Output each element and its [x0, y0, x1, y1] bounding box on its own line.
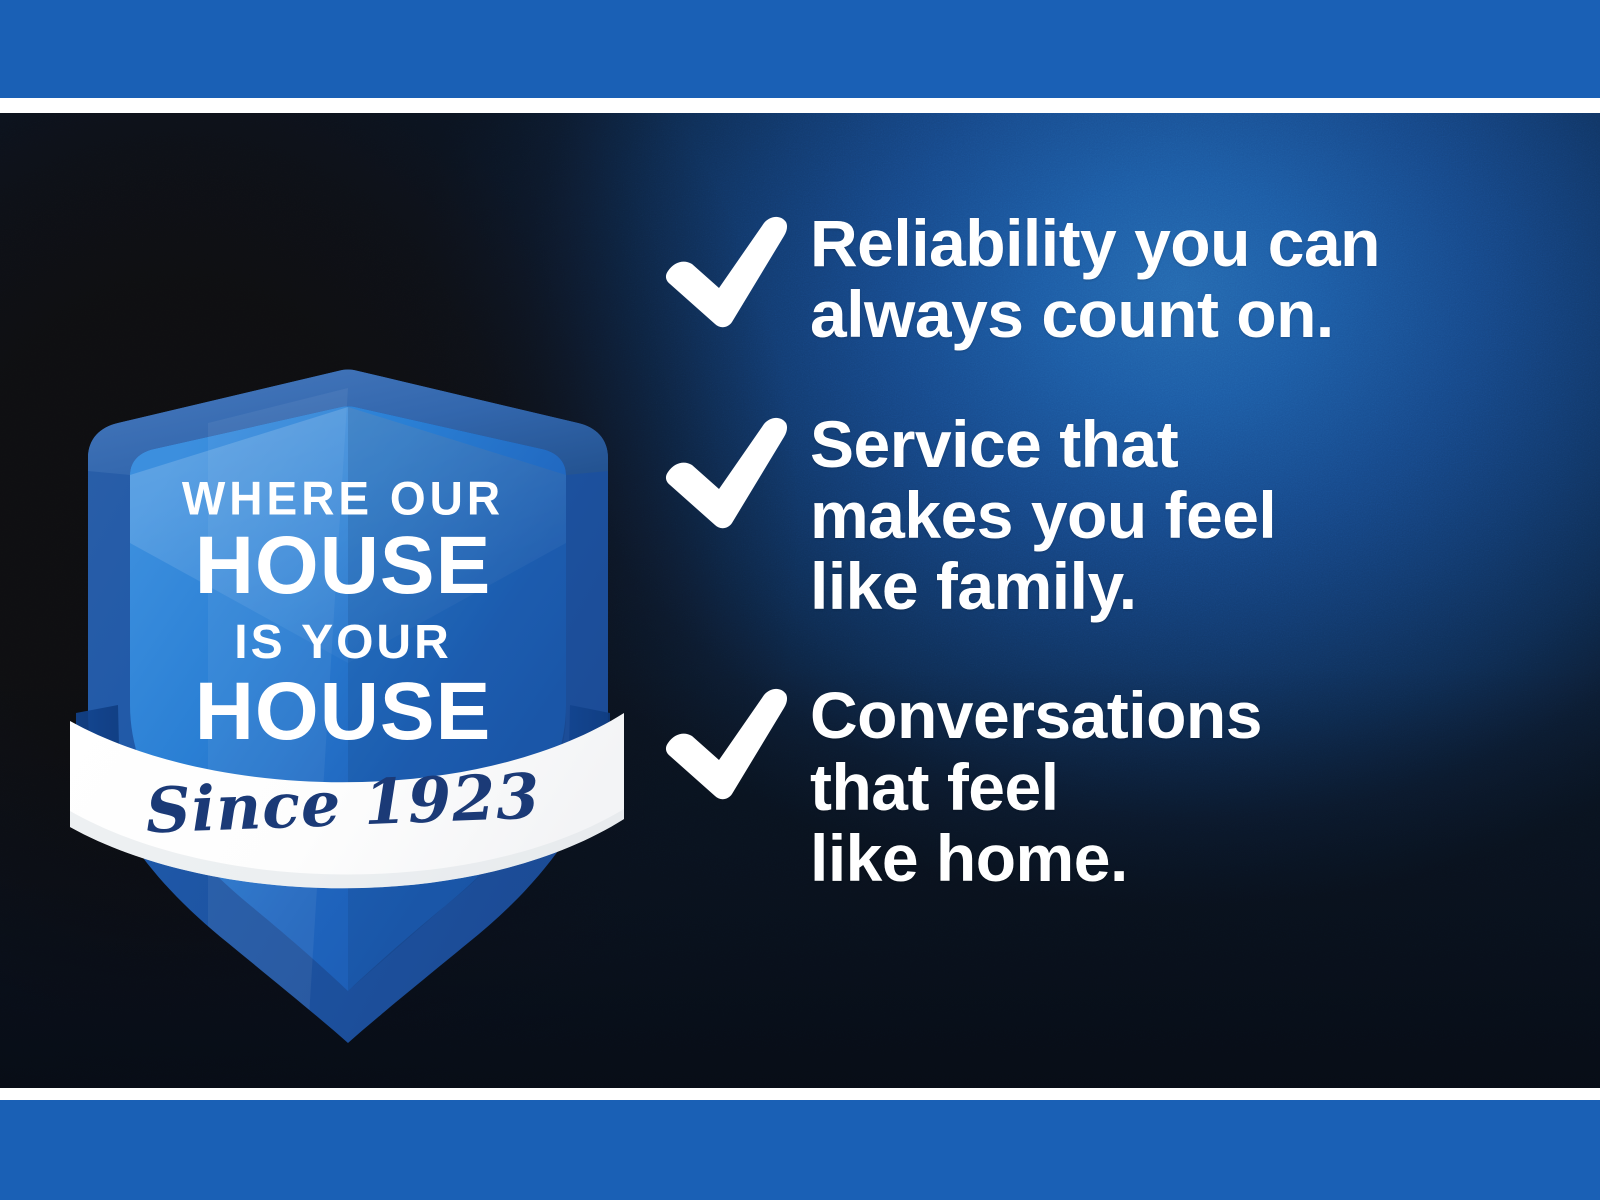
benefit-text: Conversations that feel like home.	[810, 680, 1262, 894]
badge-line-4: HOUSE	[58, 671, 628, 753]
checkmark-icon	[660, 208, 810, 332]
badge-line-3: IS YOUR	[58, 619, 628, 667]
benefit-item: Service that makes you feel like family.	[660, 409, 1550, 623]
top-white-divider	[0, 98, 1600, 113]
main-stage: WHERE OUR HOUSE IS YOUR HOUSE Since 1923…	[0, 113, 1600, 1088]
benefits-list: Reliability you can always count on. Ser…	[660, 208, 1550, 894]
benefit-item: Conversations that feel like home.	[660, 680, 1550, 894]
promo-graphic: WHERE OUR HOUSE IS YOUR HOUSE Since 1923…	[0, 0, 1600, 1200]
top-brand-bar	[0, 0, 1600, 98]
shield-badge: WHERE OUR HOUSE IS YOUR HOUSE Since 1923	[58, 243, 628, 943]
bottom-brand-bar	[0, 1100, 1600, 1200]
badge-line-2: HOUSE	[58, 525, 628, 607]
benefit-text: Service that makes you feel like family.	[810, 409, 1276, 623]
benefit-item: Reliability you can always count on.	[660, 208, 1550, 351]
checkmark-icon	[660, 680, 810, 804]
checkmark-icon	[660, 409, 810, 533]
benefit-text: Reliability you can always count on.	[810, 208, 1380, 351]
bottom-white-divider	[0, 1088, 1600, 1100]
badge-line-1: WHERE OUR	[58, 475, 628, 522]
